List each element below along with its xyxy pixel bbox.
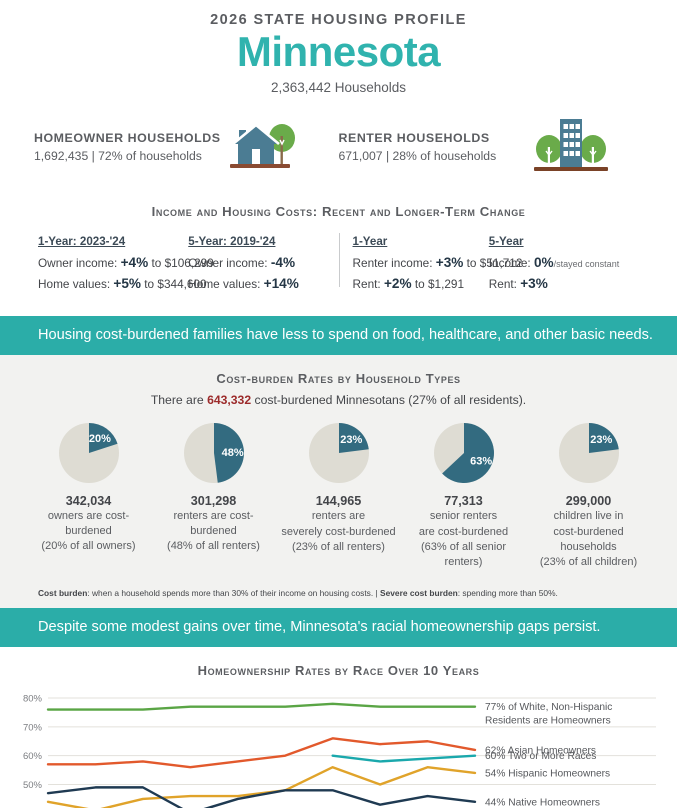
subtitle-number: 643,332 [207,393,251,407]
svg-text:23%: 23% [340,434,362,446]
pie-chart-2: 48% [151,419,276,487]
stat-value: +2% [384,276,412,291]
renter-stats: 671,007 | 28% of households [339,149,514,163]
apartment-building-with-trees-icon [530,111,612,182]
subtitle-prefix: There are [151,393,207,407]
income-col-heading: 5-Year: 2019-'24 [188,235,332,248]
stat-value: -4% [271,255,295,270]
banner-homeownership-gaps: Despite some modest gains over time, Min… [0,608,677,647]
page-header: 2026 STATE HOUSING PROFILE Minnesota 2,3… [0,0,677,95]
stat-prefix: Renter income: [353,256,436,270]
income-stat-line: Home values: +5% to $344,600 [38,273,182,294]
homeowner-label: HOMEOWNER HOUSEHOLDS [34,131,209,145]
income-col-heading: 1-Year: 2023-'24 [38,235,182,248]
pie-count: 301,298 [151,494,276,508]
page-title: Minnesota [0,30,677,74]
y-axis-tick: 50% [23,780,43,791]
pie-chart-1: 20% [26,419,151,487]
pie-percent-line: (63% of all senior renters) [401,540,526,570]
income-section-title: Income and Housing Costs: Recent and Lon… [0,204,677,219]
header-kicker: 2026 STATE HOUSING PROFILE [0,0,677,28]
housing-profile-page: 2026 STATE HOUSING PROFILE Minnesota 2,3… [0,0,677,808]
stat-value: 0% [534,255,554,270]
income-stat-line: Income: 0%/stayed constant [489,252,633,273]
chart-title: Homeownership Rates by Race Over 10 Year… [0,663,677,678]
chart-series-asian [48,738,475,767]
pie-chart-row: 20%342,034owners are cost-burdened(20% o… [0,407,677,569]
y-axis-tick: 60% [23,751,43,762]
income-stat-line: Owner income: +4% to $106,299 [38,252,182,273]
pie-chart-3: 23% [276,419,401,487]
pie-description: renters are [276,509,401,524]
stat-prefix: Income: [489,256,534,270]
series-label-white-non-hispanic: 77% of White, Non-Hispanic [485,702,612,713]
svg-text:20%: 20% [88,433,110,445]
svg-text:48%: 48% [221,447,243,459]
pie-cell: 63%77,313senior rentersare cost-burdened… [401,419,526,569]
household-total: 2,363,442 Households [0,80,677,95]
cost-burden-subtitle: There are 643,332 cost-burdened Minnesot… [0,393,677,407]
income-col-5year-renter: 5-Year Income: 0%/stayed constant Rent: … [489,235,639,294]
y-axis-tick: 80% [23,693,43,704]
svg-text:23%: 23% [590,434,612,446]
stat-suffix: /stayed constant [554,259,620,269]
pie-percent-line: (48% of all renters) [151,539,276,554]
stat-suffix: to $1,291 [412,277,464,291]
cost-burden-title: Cost-burden Rates by Household Types [0,355,677,386]
income-col-heading: 5-Year [489,235,633,248]
stat-value: +14% [264,276,299,291]
house-with-tree-icon [225,114,299,179]
pie-description: severely cost-burdened [276,525,401,540]
income-col-1year-owner: 1-Year: 2023-'24 Owner income: +4% to $1… [38,235,188,294]
cost-burden-footnote: Cost burden: when a household spends mor… [0,570,677,606]
income-col-heading: 1-Year [353,235,483,248]
stat-prefix: Home values: [38,277,113,291]
income-stat-line: Rent: +2% to $1,291 [353,273,483,294]
pie-description: are cost-burdened [401,525,526,540]
pie-count: 299,000 [526,494,651,508]
pie-cell: 20%342,034owners are cost-burdened(20% o… [26,419,151,569]
stat-prefix: Owner income: [38,256,121,270]
income-stat-line: Renter income: +3% to $51,712 [353,252,483,273]
pie-cell: 23%299,000children live incost-burdened … [526,419,651,569]
series-label-native: 44% Native Homeowners [485,797,600,808]
stat-value: +3% [436,255,464,270]
renter-block: RENTER HOUSEHOLDS 671,007 | 28% of house… [339,111,644,182]
stat-value: +5% [113,276,141,291]
banner-cost-burden: Housing cost-burdened families have less… [0,316,677,355]
stat-prefix: Rent: [353,277,384,291]
income-grid: 1-Year: 2023-'24 Owner income: +4% to $1… [0,235,677,294]
income-stat-line: Home values: +14% [188,273,332,294]
stat-prefix: Rent: [489,277,520,291]
footnote-text-2: : spending more than 50%. [458,588,558,598]
y-axis-tick: 70% [23,722,43,733]
stat-value: +3% [520,276,548,291]
pie-percent-line: (23% of all renters) [276,540,401,555]
income-col-5year-owner: 5-Year: 2019-'24 Owner income: -4% Home … [188,235,338,294]
pie-percent-line: (20% of all owners) [26,539,151,554]
pie-chart-4: 63% [401,419,526,487]
series-label-two-or-more-races: 60% Two or More Races [485,751,596,762]
pie-count: 77,313 [401,494,526,508]
footnote-term-1: Cost burden [38,588,87,598]
homeownership-line-chart: 20%30%40%50%60%70%80%2014201520162017201… [0,684,677,808]
pie-cell: 23%144,965renters areseverely cost-burde… [276,419,401,569]
series-label-hispanic: 54% Hispanic Homeowners [485,768,610,779]
svg-text:63%: 63% [470,456,492,468]
pie-description: owners are cost-burdened [26,509,151,539]
pie-percent-line: (23% of all children) [526,555,651,570]
footnote-text-1: : when a household spends more than 30% … [87,588,380,598]
pie-chart-5: 23% [526,419,651,487]
pie-description: renters are cost-burdened [151,509,276,539]
pie-count: 144,965 [276,494,401,508]
subtitle-suffix: cost-burdened Minnesotans (27% of all re… [251,393,526,407]
stat-prefix: Owner income: [188,256,271,270]
tenure-row: HOMEOWNER HOUSEHOLDS 1,692,435 | 72% of … [0,111,677,182]
chart-series-two-or-more-races [333,755,475,761]
income-stat-line: Rent: +3% [489,273,633,294]
chart-series-white-non-hispanic [48,703,475,709]
stat-prefix: Home values: [188,277,263,291]
stat-value: +4% [121,255,149,270]
pie-count: 342,034 [26,494,151,508]
renter-label: RENTER HOUSEHOLDS [339,131,514,145]
cost-burden-section: Cost-burden Rates by Household Types The… [0,355,677,607]
pie-description: senior renters [401,509,526,524]
homeowner-stats: 1,692,435 | 72% of households [34,149,209,163]
series-label-line2: Residents are Homeowners [485,715,611,726]
income-stat-line: Owner income: -4% [188,252,332,273]
pie-cell: 48%301,298renters are cost-burdened(48% … [151,419,276,569]
footnote-term-2: Severe cost burden [380,588,458,598]
pie-description: cost-burdened households [526,525,651,555]
pie-description: children live in [526,509,651,524]
income-divider [339,233,340,287]
income-col-1year-renter: 1-Year Renter income: +3% to $51,712 Ren… [339,235,489,294]
homeowner-block: HOMEOWNER HOUSEHOLDS 1,692,435 | 72% of … [34,111,339,182]
